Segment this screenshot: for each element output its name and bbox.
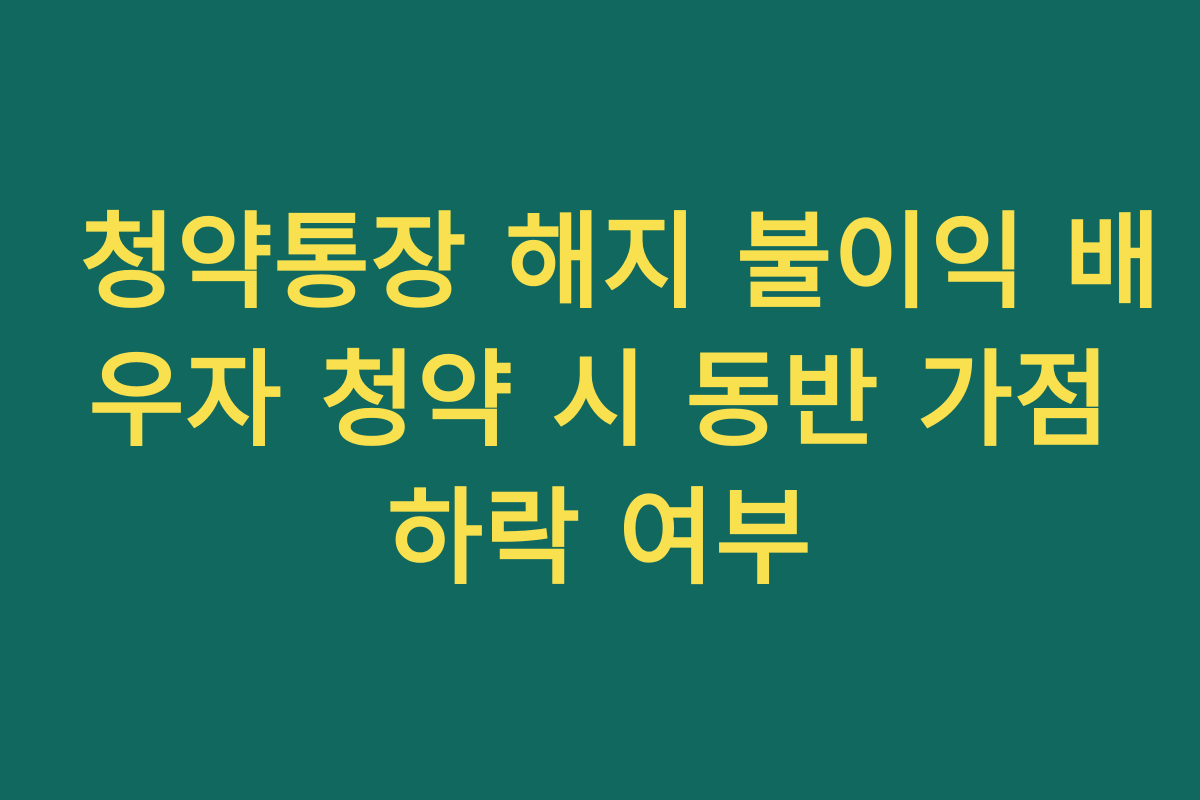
page-title: 청약통장 해지 불이익 배 우자 청약 시 동반 가점 하락 여부 (80, 193, 1120, 607)
headline-line-3: 하락 여부 (80, 469, 1120, 607)
headline-line-1: 청약통장 해지 불이익 배 (80, 193, 1120, 331)
thumbnail-card: 청약통장 해지 불이익 배 우자 청약 시 동반 가점 하락 여부 (0, 0, 1200, 800)
headline-line-2: 우자 청약 시 동반 가점 (80, 331, 1120, 469)
